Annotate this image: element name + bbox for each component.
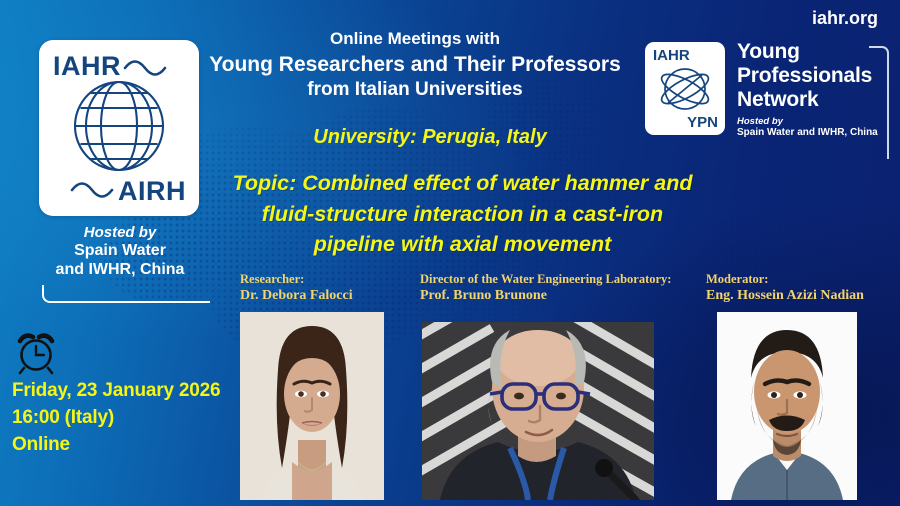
person-name-1: Dr. Debora Falocci — [240, 287, 353, 304]
person-photo-1 — [240, 312, 384, 500]
decorative-bracket-top-right — [869, 46, 889, 159]
alarm-clock-icon — [12, 330, 60, 376]
ypn-hosts: Spain Water and IWHR, China — [737, 127, 878, 138]
person-photo-2 — [422, 322, 654, 500]
person-role-3: Moderator: — [706, 272, 864, 287]
schedule-mode: Online — [12, 432, 220, 459]
ypn-name-line-2: Professionals — [737, 64, 878, 88]
webinar-announcement-poster: IAHR AIRH Hosted by Spain Water and — [0, 0, 900, 506]
iahr-host-line-2: and IWHR, China — [30, 261, 210, 280]
schedule-time: 16:00 (Italy) — [12, 405, 220, 432]
header-line-3: from Italian Universities — [195, 78, 635, 103]
schedule-date: Friday, 23 January 2026 — [12, 378, 220, 405]
header-line-2: Young Researchers and Their Professors — [195, 51, 635, 78]
topic-line-3: pipeline with axial movement — [190, 229, 735, 260]
topic-line-2: fluid-structure interaction in a cast-ir… — [190, 199, 735, 230]
iahr-host-line-1: Spain Water — [30, 242, 210, 261]
ypn-name-line-1: Young — [737, 40, 878, 64]
header-line-1: Online Meetings with — [195, 28, 635, 51]
person-photo-3 — [717, 312, 857, 500]
iahr-hosted-by-label: Hosted by — [30, 224, 210, 242]
iahr-hosted-by-block: Hosted by Spain Water and IWHR, China — [30, 224, 210, 279]
iahr-logo-bottom-word: AIRH — [118, 176, 186, 207]
ypn-name-line-3: Network — [737, 88, 878, 112]
iahr-website-url[interactable]: iahr.org — [812, 8, 878, 29]
iahr-logo-card: IAHR AIRH — [39, 40, 199, 216]
ypn-logo-bottom-word: YPN — [687, 114, 718, 131]
decorative-bracket-bottom-left — [42, 285, 210, 303]
header-title-block: Online Meetings with Young Researchers a… — [195, 28, 635, 103]
person-role-block-1: Researcher: Dr. Debora Falocci — [240, 272, 353, 304]
person-name-3: Eng. Hossein Azizi Nadian — [706, 287, 864, 304]
person-role-1: Researcher: — [240, 272, 353, 287]
person-role-block-2: Director of the Water Engineering Labora… — [420, 272, 671, 304]
university-label: University: Perugia, Italy — [195, 126, 665, 149]
ypn-name-block: Young Professionals Network Hosted by Sp… — [737, 40, 878, 138]
schedule-block: Friday, 23 January 2026 16:00 (Italy) On… — [12, 378, 220, 459]
person-name-2: Prof. Bruno Brunone — [420, 287, 671, 304]
ypn-hosted-by-label: Hosted by — [737, 116, 878, 127]
topic-line-1: Topic: Combined effect of water hammer a… — [190, 168, 735, 199]
topic-block: Topic: Combined effect of water hammer a… — [190, 168, 735, 260]
person-role-2: Director of the Water Engineering Labora… — [420, 272, 671, 287]
ypn-logo-card: IAHR YPN — [645, 42, 725, 135]
person-role-block-3: Moderator: Eng. Hossein Azizi Nadian — [706, 272, 864, 304]
